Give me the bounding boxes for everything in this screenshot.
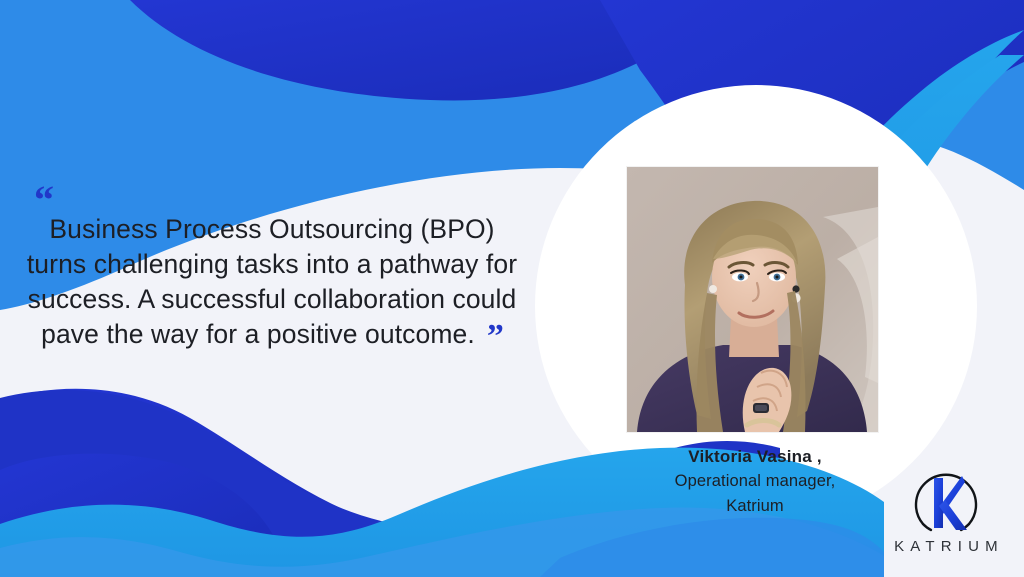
katrium-logo-mark-icon: [905, 462, 987, 536]
quote-text-container: Business Process Outsourcing (BPO) turns…: [12, 184, 532, 354]
portrait-illustration: [627, 167, 878, 432]
katrium-wordmark: KATRIUM: [876, 538, 1016, 555]
speaker-name: Viktoria Vasina ,: [600, 444, 910, 469]
quote-block: “ Business Process Outsourcing (BPO) tur…: [12, 184, 532, 354]
speaker-role: Operational manager,: [600, 469, 910, 494]
portrait-photo: [627, 167, 878, 432]
quote-close-icon: ”: [487, 320, 503, 354]
quote-open-icon: “: [34, 180, 53, 220]
attribution-block: Viktoria Vasina , Operational manager, K…: [600, 444, 910, 519]
katrium-logo: KATRIUM: [876, 462, 1016, 558]
testimonial-card: “ Business Process Outsourcing (BPO) tur…: [0, 0, 1024, 577]
quote-text: Business Process Outsourcing (BPO) turns…: [27, 214, 517, 349]
speaker-company: Katrium: [600, 494, 910, 519]
